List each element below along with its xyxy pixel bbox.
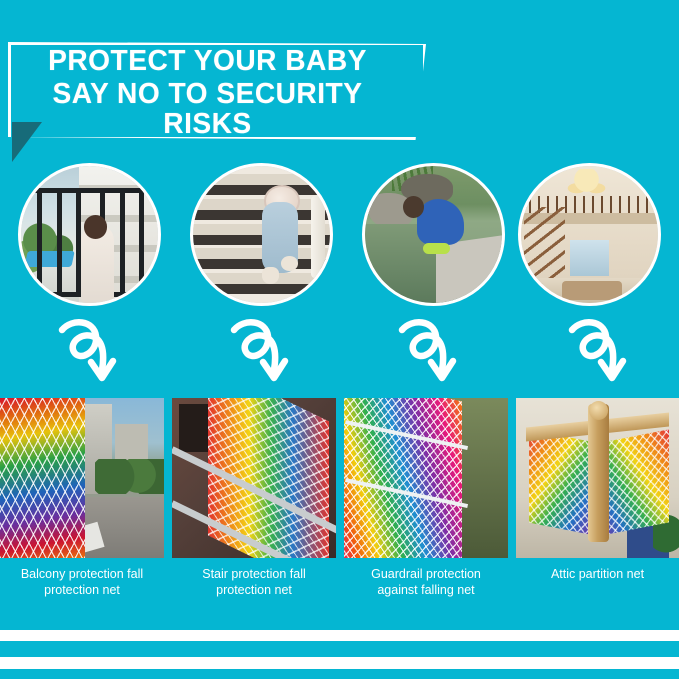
toddler-climbing-stairs-image — [193, 166, 330, 303]
caption-balcony-line-1: Balcony protection fall — [21, 567, 143, 581]
headline-line-2: SAY NO TO SECURITY RISKS — [6, 79, 409, 139]
hazard-photo-4 — [518, 163, 661, 306]
guardrail-net-photo — [344, 398, 508, 558]
hazard-photo-3 — [362, 163, 505, 306]
headline-banner: PROTECT YOUR BABY SAY NO TO SECURITY RIS… — [0, 36, 440, 146]
caption-stair-line-1: Stair protection fall — [202, 567, 306, 581]
caption-balcony: Balcony protection fall protection net — [0, 566, 164, 598]
baby-at-balcony-railing-image — [21, 166, 158, 303]
caption-guardrail-line-1: Guardrail protection — [371, 567, 481, 581]
hazard-photo-row — [0, 163, 679, 308]
banner-tail-triangle — [12, 122, 42, 162]
caption-guardrail-line-2: against falling net — [377, 583, 474, 597]
headline-line-1: PROTECT YOUR BABY — [6, 46, 409, 76]
curly-down-arrow-4-icon — [568, 318, 634, 384]
caption-balcony-line-2: protection net — [44, 583, 120, 597]
product-photo-row — [0, 398, 679, 558]
banner-text: PROTECT YOUR BABY SAY NO TO SECURITY RIS… — [6, 46, 409, 139]
caption-row: Balcony protection fall protection net S… — [0, 566, 679, 616]
caption-guardrail: Guardrail protection against falling net — [344, 566, 508, 598]
attic-net-photo — [516, 398, 679, 558]
curly-down-arrow-1-icon — [58, 318, 124, 384]
hazard-photo-1 — [18, 163, 161, 306]
stair-net-photo — [172, 398, 336, 558]
poster-canvas: PROTECT YOUR BABY SAY NO TO SECURITY RIS… — [0, 0, 679, 679]
caption-attic: Attic partition net — [516, 566, 679, 582]
caption-attic-line-1: Attic partition net — [551, 567, 644, 581]
caption-stair-line-2: protection net — [216, 583, 292, 597]
hazard-photo-2 — [190, 163, 333, 306]
bottom-stripe-2 — [0, 657, 679, 669]
curly-down-arrow-2-icon — [230, 318, 296, 384]
bottom-stripe-1 — [0, 630, 679, 641]
boy-crouching-at-pond-image — [365, 166, 502, 303]
balcony-net-photo — [0, 398, 164, 558]
caption-stair: Stair protection fall protection net — [172, 566, 336, 598]
interior-staircase-loft-image — [521, 166, 658, 303]
curly-down-arrow-3-icon — [398, 318, 464, 384]
